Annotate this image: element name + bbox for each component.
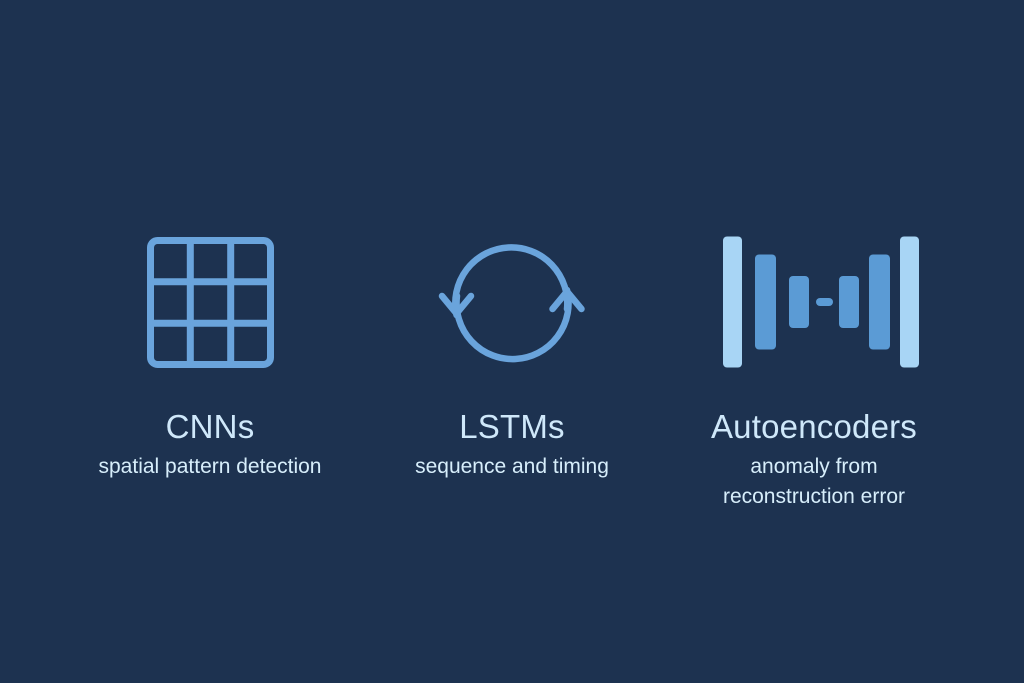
autoencoder-bar-6 xyxy=(869,255,890,350)
card-cnns[interactable]: CNNs spatial pattern detection xyxy=(59,0,361,482)
card-cnns-subtitle-line-1: spatial pattern detection xyxy=(99,452,322,482)
card-lstms-subtitle-line-1: sequence and timing xyxy=(415,452,609,482)
card-autoencoders-icon-container xyxy=(721,222,907,382)
card-autoencoders-subtitle: anomaly from reconstruction error xyxy=(723,452,905,512)
autoencoder-bars-icon xyxy=(721,232,907,372)
autoencoder-bar-2 xyxy=(755,255,776,350)
card-lstms-subtitle: sequence and timing xyxy=(415,452,609,482)
card-lstms-title: LSTMs xyxy=(459,408,565,446)
card-autoencoders-title: Autoencoders xyxy=(711,408,917,446)
slide-canvas: CNNs spatial pattern detection xyxy=(0,0,1024,683)
autoencoder-bar-7 xyxy=(900,237,919,368)
card-cnns-title: CNNs xyxy=(166,408,255,446)
card-autoencoders-subtitle-line-1: anomaly from xyxy=(723,452,905,482)
card-cnns-subtitle: spatial pattern detection xyxy=(99,452,322,482)
autoencoder-bar-5 xyxy=(839,276,859,328)
circular-cycle-arrows-icon xyxy=(429,225,595,380)
grid-3x3-icon xyxy=(147,237,274,368)
architecture-card-row: CNNs spatial pattern detection xyxy=(0,0,1024,683)
autoencoder-bar-3 xyxy=(789,276,809,328)
card-autoencoders[interactable]: Autoencoders anomaly from reconstruction… xyxy=(663,0,965,512)
card-lstms[interactable]: LSTMs sequence and timing xyxy=(361,0,663,482)
autoencoder-bar-1 xyxy=(723,237,742,368)
card-lstms-icon-container xyxy=(429,222,595,382)
card-autoencoders-subtitle-line-2: reconstruction error xyxy=(723,482,905,512)
card-cnns-icon-container xyxy=(147,222,274,382)
autoencoder-bottleneck-bar xyxy=(816,298,833,306)
